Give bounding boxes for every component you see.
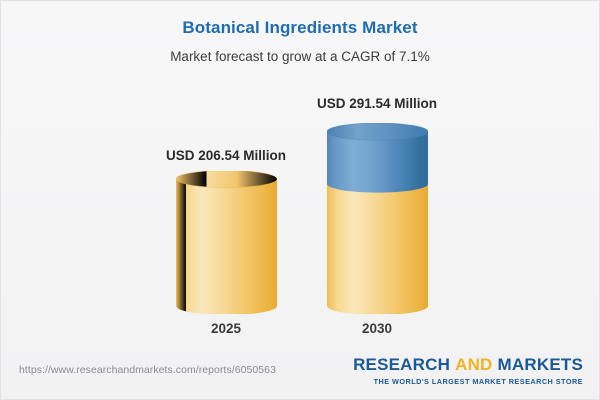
report-url-link[interactable]: https://www.researchandmarkets.com/repor… [19,363,276,377]
chart-plot-area: USD 206.54 Million [1,1,600,346]
category-label-2025: 2025 [156,320,296,338]
brand-logo-tagline: THE WORLD'S LARGEST MARKET RESEARCH STOR… [353,376,583,387]
brand-logo-research: RESEARCH [353,355,450,374]
brand-logo-and: AND [455,355,492,374]
bar-cylinder-2030-shape [327,123,428,314]
brand-logo-markets: MARKETS [498,355,583,374]
infographic-card: Botanical Ingredients Market Market fore… [0,0,600,400]
bar-cylinder-2025-shape [176,171,277,314]
brand-logo[interactable]: RESEARCHANDMARKETS THE WORLD'S LARGEST M… [353,355,583,387]
bar-cylinder-2025[interactable] [176,171,277,314]
bar-cylinder-2030[interactable] [327,123,428,314]
bar-value-label-2030: USD 291.54 Million [307,95,447,113]
bar-value-label-2025: USD 206.54 Million [156,147,296,165]
brand-logo-wordmark: RESEARCHANDMARKETS [353,355,583,375]
category-label-2030: 2030 [307,320,447,338]
footer: https://www.researchandmarkets.com/repor… [1,346,600,399]
